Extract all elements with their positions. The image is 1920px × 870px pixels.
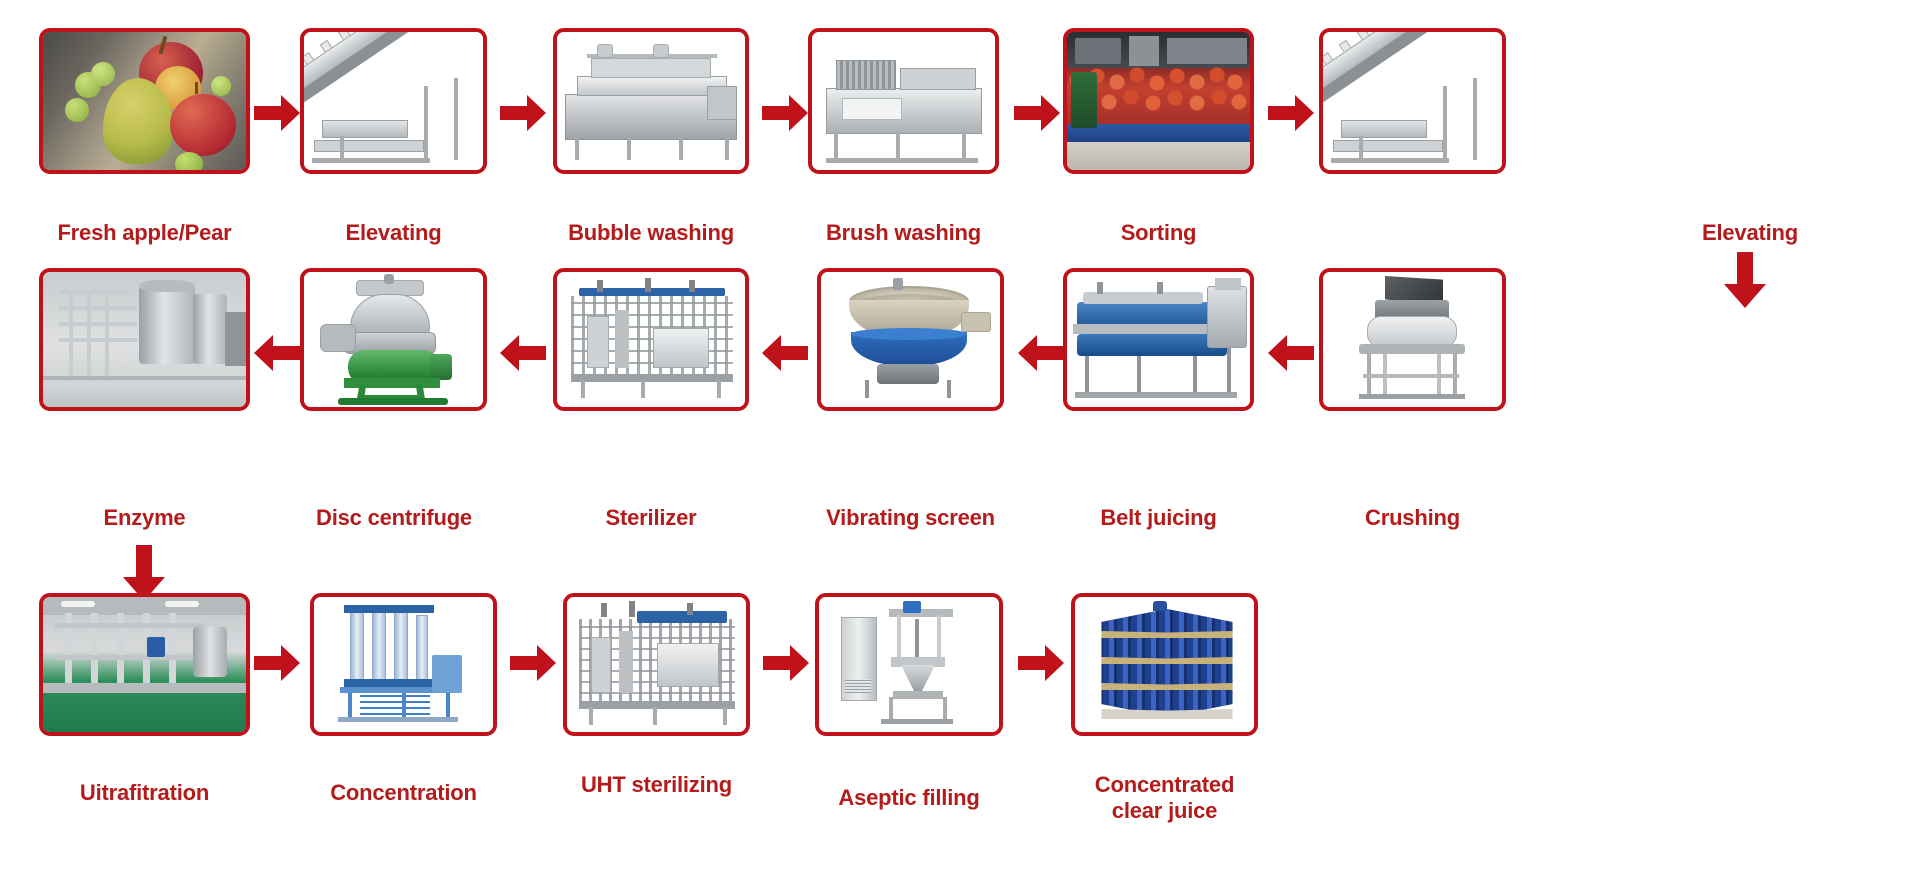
step-image-vibrating-screen [821,272,1000,407]
arrow-right-concentration-to-uht [510,645,556,681]
step-image-elevating-1 [304,32,483,170]
step-label-uht-sterilizing: UHT sterilizing [553,772,760,798]
step-card-elevating-2[interactable] [1319,28,1506,174]
step-image-crushing [1323,272,1502,407]
step-card-uht-sterilizing[interactable] [563,593,750,736]
step-card-disc-centrifuge[interactable] [300,268,487,411]
step-card-concentration[interactable] [310,593,497,736]
step-label-disc-centrifuge: Disc centrifuge [286,505,502,531]
step-card-fresh-fruit[interactable] [39,28,250,174]
step-card-brush-washing[interactable] [808,28,999,174]
step-card-sterilizer[interactable] [553,268,749,411]
arrow-right-aseptic-to-concentrated-juice [1018,645,1064,681]
step-image-sterilizer [557,272,745,407]
step-image-brush-washing [812,32,995,170]
process-flow-diagram: Fresh apple/Pear Elevating [0,0,1920,870]
step-label-concentrated-juice: Concentrated clear juice [1061,772,1268,824]
step-label-crushing: Crushing [1309,505,1516,531]
arrow-left-vibrating-to-sterilizer [762,335,808,371]
step-card-enzyme[interactable] [39,268,250,411]
arrow-left-sterilizer-to-disc [500,335,546,371]
arrow-right-elevating1-to-bubble [500,95,546,131]
arrow-right-uht-to-aseptic [763,645,809,681]
step-label-elevating-2: Elevating [1635,220,1865,246]
step-card-elevating-1[interactable] [300,28,487,174]
arrow-left-crushing-to-belt [1268,335,1314,371]
step-image-disc-centrifuge [304,272,483,407]
step-image-ultrafiltration [43,597,246,732]
step-image-fresh-fruit [43,32,246,170]
step-label-elevating-1: Elevating [290,220,497,246]
step-image-enzyme [43,272,246,407]
step-image-uht-sterilizing [567,597,746,732]
step-label-aseptic-filling: Aseptic filling [805,785,1013,811]
step-image-elevating-2 [1323,32,1502,170]
step-card-sorting[interactable] [1063,28,1254,174]
step-card-concentrated-juice[interactable] [1071,593,1258,736]
step-card-aseptic-filling[interactable] [815,593,1003,736]
arrow-down-elevating2-to-crushing [1724,252,1766,308]
step-image-concentration [314,597,493,732]
arrow-right-brush-to-sorting [1014,95,1060,131]
step-label-sorting: Sorting [1053,220,1264,246]
step-card-crushing[interactable] [1319,268,1506,411]
arrow-left-belt-to-vibrating [1018,335,1064,371]
step-image-concentrated-juice [1075,597,1254,732]
step-image-belt-juicing [1067,272,1250,407]
arrow-right-ultrafiltration-to-concentration [254,645,300,681]
step-label-concentration: Concentration [300,780,507,806]
arrow-right-bubble-to-brush [762,95,808,131]
step-card-belt-juicing[interactable] [1063,268,1254,411]
step-card-bubble-washing[interactable] [553,28,749,174]
step-card-ultrafiltration[interactable] [39,593,250,736]
arrow-right-sorting-to-elevating2 [1268,95,1314,131]
step-label-belt-juicing: Belt juicing [1053,505,1264,531]
step-label-vibrating-screen: Vibrating screen [807,505,1014,531]
step-label-sterilizer: Sterilizer [543,505,759,531]
step-label-fresh-fruit: Fresh apple/Pear [29,220,260,246]
step-label-ultrafiltration: Uitrafitration [29,780,260,806]
step-image-sorting [1067,32,1250,170]
step-image-bubble-washing [557,32,745,170]
step-label-enzyme: Enzyme [29,505,260,531]
step-label-brush-washing: Brush washing [798,220,1009,246]
arrow-right-fresh-to-elevating [254,95,300,131]
arrow-left-disc-to-enzyme [254,335,300,371]
step-label-bubble-washing: Bubble washing [543,220,759,246]
step-image-aseptic-filling [819,597,999,732]
step-card-vibrating-screen[interactable] [817,268,1004,411]
